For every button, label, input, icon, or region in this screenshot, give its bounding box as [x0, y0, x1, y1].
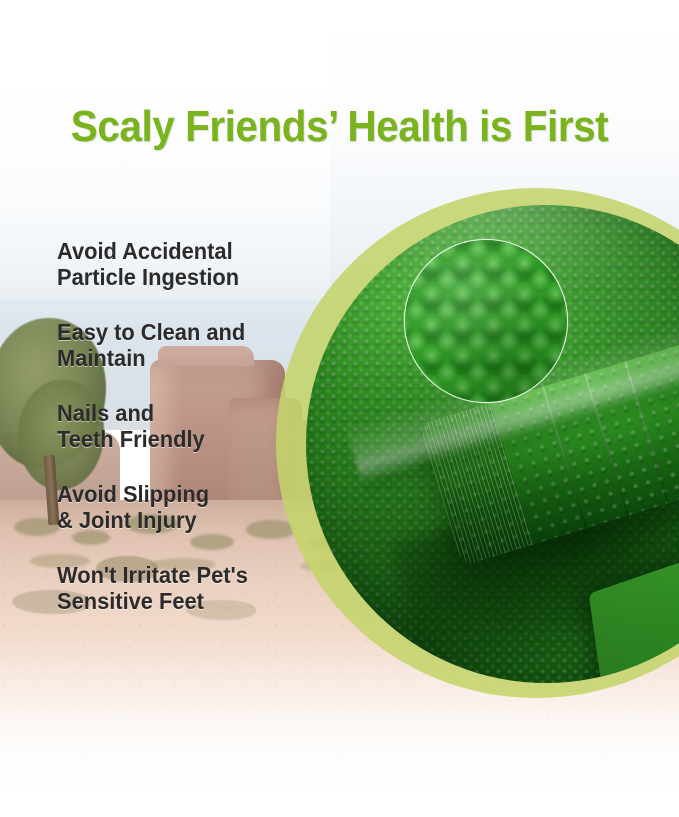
feature-list: Avoid Accidental Particle Ingestion Easy…	[57, 238, 319, 614]
product-infographic: Scaly Friends’ Health is First Avoid Acc…	[0, 0, 679, 817]
feature-item: Avoid Accidental Particle Ingestion	[57, 238, 306, 290]
zoomed-shading	[405, 240, 567, 402]
feature-item: Avoid Slipping & Joint Injury	[57, 481, 306, 533]
feature-item: Won't Irritate Pet's Sensitive Feet	[57, 562, 306, 614]
texture-zoom-circle-icon	[404, 239, 568, 403]
feature-item: Nails and Teeth Friendly	[57, 400, 306, 452]
feature-item: Easy to Clean and Maintain	[57, 319, 306, 371]
page-title: Scaly Friends’ Health is First	[27, 104, 652, 150]
